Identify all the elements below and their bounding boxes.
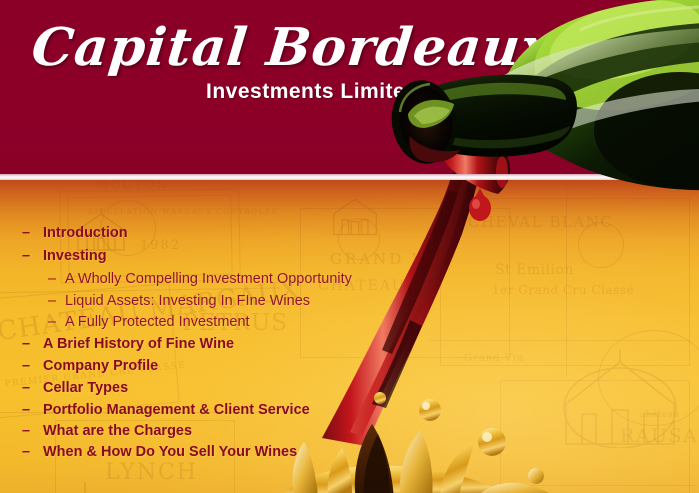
- contents-item-a-fully-protected-investment[interactable]: –A Fully Protected Investment: [48, 314, 250, 330]
- bullet-dash-icon: –: [48, 271, 61, 287]
- contents-item-label: A Fully Protected Investment: [65, 314, 250, 330]
- contents-item-a-brief-history-of-fine-wine[interactable]: –A Brief History of Fine Wine: [22, 336, 234, 352]
- brand-name: Capital Bordeaux: [29, 19, 556, 77]
- bullet-dash-icon: –: [22, 248, 38, 264]
- contents-item-liquid-assets-investing-in-fine-wines[interactable]: –Liquid Assets: Investing In FIne Wines: [48, 293, 310, 309]
- contents-item-label: Investing: [43, 248, 107, 264]
- watermark-text: Grand Vin: [464, 353, 524, 364]
- contents-item-what-are-the-charges[interactable]: –What are the Charges: [22, 423, 192, 439]
- contents-item-label: Liquid Assets: Investing In FIne Wines: [65, 293, 310, 309]
- watermark-text: St Emilion: [495, 262, 574, 278]
- contents-item-when-how-do-you-sell-your-wines[interactable]: –When & How Do You Sell Your Wines: [22, 444, 297, 460]
- bullet-dash-icon: –: [48, 314, 61, 330]
- bullet-dash-icon: –: [22, 402, 38, 418]
- contents-item-label: When & How Do You Sell Your Wines: [43, 444, 297, 460]
- contents-item-label: Cellar Types: [43, 380, 128, 396]
- contents-list: –Introduction–Investing–A Wholly Compell…: [0, 180, 360, 493]
- bullet-dash-icon: –: [22, 358, 38, 374]
- watermark-text: RAUSAN: [620, 425, 699, 447]
- watermark-seal: [598, 330, 699, 426]
- watermark-text: château: [640, 410, 680, 420]
- watermark-rule: [500, 485, 695, 486]
- watermark-rule: [430, 340, 690, 341]
- contents-item-label: Company Profile: [43, 358, 158, 374]
- contents-item-label: A Wholly Compelling Investment Opportuni…: [65, 271, 352, 287]
- bullet-dash-icon: –: [22, 444, 38, 460]
- contents-item-portfolio-management-client-service[interactable]: –Portfolio Management & Client Service: [22, 402, 310, 418]
- watermark-text: 1er Grand Cru Classé: [492, 283, 634, 297]
- contents-item-label: A Brief History of Fine Wine: [43, 336, 234, 352]
- watermark-label-outline: [440, 198, 690, 366]
- watermark-seal: [578, 222, 624, 268]
- bullet-dash-icon: –: [22, 423, 38, 439]
- contents-item-label: Introduction: [43, 225, 128, 241]
- contents-item-label: Portfolio Management & Client Service: [43, 402, 310, 418]
- chateau-engraving-icon: [560, 348, 680, 448]
- watermark-text: CHEVAL BLANC: [468, 213, 613, 231]
- contents-item-company-profile[interactable]: –Company Profile: [22, 358, 158, 374]
- bullet-dash-icon: –: [22, 380, 38, 396]
- contents-item-cellar-types[interactable]: –Cellar Types: [22, 380, 128, 396]
- presentation-slide: APPELLATION MARGAUX CONTROLEE1982CHATEAU…: [0, 0, 699, 493]
- contents-item-label: What are the Charges: [43, 423, 192, 439]
- header-band: Capital Bordeaux Investments Limited: [0, 0, 699, 174]
- contents-item-introduction[interactable]: –Introduction: [22, 225, 128, 241]
- brand-subtitle: Investments Limited: [206, 80, 419, 104]
- watermark-label-outline: [500, 380, 690, 493]
- contents-item-a-wholly-compelling-investment-opportunity[interactable]: –A Wholly Compelling Investment Opportun…: [48, 271, 352, 287]
- bullet-dash-icon: –: [48, 293, 61, 309]
- watermark-rule: [566, 180, 586, 376]
- bullet-dash-icon: –: [22, 225, 38, 241]
- contents-item-investing[interactable]: –Investing: [22, 248, 107, 264]
- bullet-dash-icon: –: [22, 336, 38, 352]
